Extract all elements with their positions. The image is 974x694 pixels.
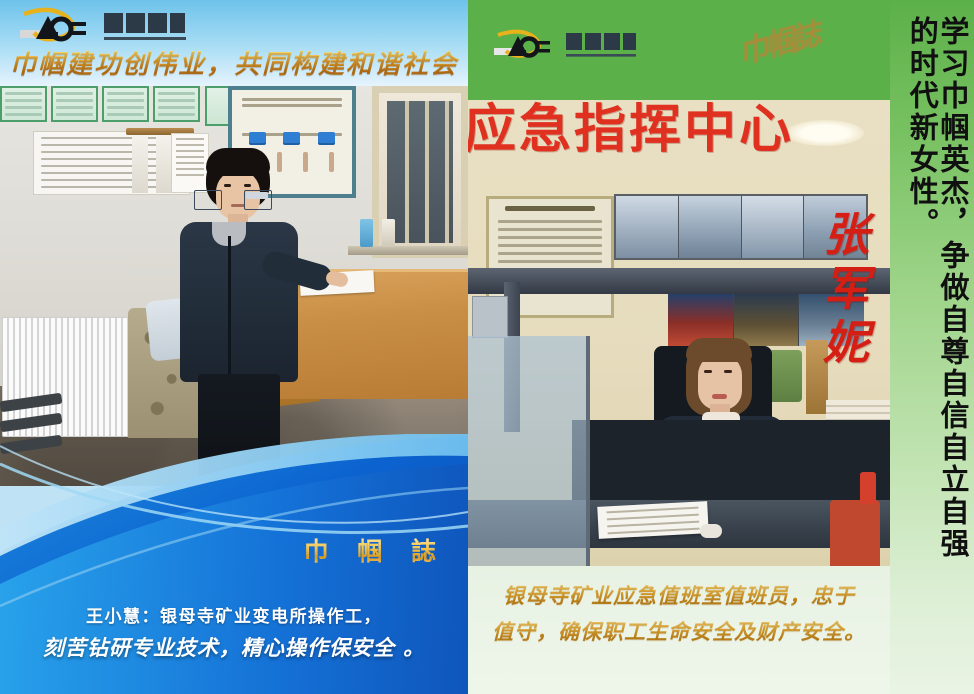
wall-shelf xyxy=(348,246,468,255)
bottle xyxy=(360,219,373,247)
left-caption-line1: 王小慧：银母寺矿业变电所操作工， xyxy=(0,602,468,627)
right-photo: 应急指挥中心 xyxy=(468,100,890,566)
red-chair xyxy=(830,500,880,566)
glass-partition xyxy=(468,336,590,566)
red-cup xyxy=(860,472,876,504)
right-vertical-slogan: 学习巾帼英杰，争做自尊自信自立自强的时代新女性。 xyxy=(896,16,968,576)
hanging-towel xyxy=(132,135,148,193)
left-person-figure xyxy=(168,148,308,448)
logbook xyxy=(597,501,709,539)
left-photo xyxy=(0,86,468,486)
duty-desk xyxy=(572,420,890,504)
left-panel: 巾帼建功创伟业，共同构建和谐社会 xyxy=(0,0,468,694)
age-swoosh-logo-icon xyxy=(488,28,638,62)
wall-control-panel xyxy=(472,296,508,338)
left-watermark-text: 巾 帼 誌 xyxy=(304,532,446,568)
left-banner-title: 巾帼建功创伟业，共同构建和谐社会 xyxy=(0,44,468,81)
right-caption-line1: 银母寺矿业应急值班室值班员，忠于 xyxy=(476,580,882,612)
right-caption-line2: 值守，确保职工生命安全及财产安全。 xyxy=(476,616,882,648)
left-caption-line2: 刻苦钻研专业技术，精心操作保安全 。 xyxy=(0,632,468,662)
left-caption-block: 巾 帼 誌 王小慧：银母寺矿业变电所操作工， 刻苦钻研专业技术，精心操作保安全 … xyxy=(0,576,468,694)
person-name-calligraphy: 张军妮 xyxy=(812,210,876,410)
bottle xyxy=(382,219,395,247)
age-swoosh-logo-icon xyxy=(12,6,192,46)
bench xyxy=(0,391,62,486)
room-sign-text: 应急指挥中心 xyxy=(468,104,854,156)
right-caption-block: 银母寺矿业应急值班室值班员，忠于 值守，确保职工生命安全及财产安全。 xyxy=(468,566,890,694)
wall-notice-boards xyxy=(0,86,200,122)
poster-root: 巾帼建功创伟业，共同构建和谐社会 xyxy=(0,0,974,694)
right-panel: 巾帼誌 应急指挥中心 xyxy=(468,0,974,694)
computer-mouse xyxy=(700,524,722,538)
